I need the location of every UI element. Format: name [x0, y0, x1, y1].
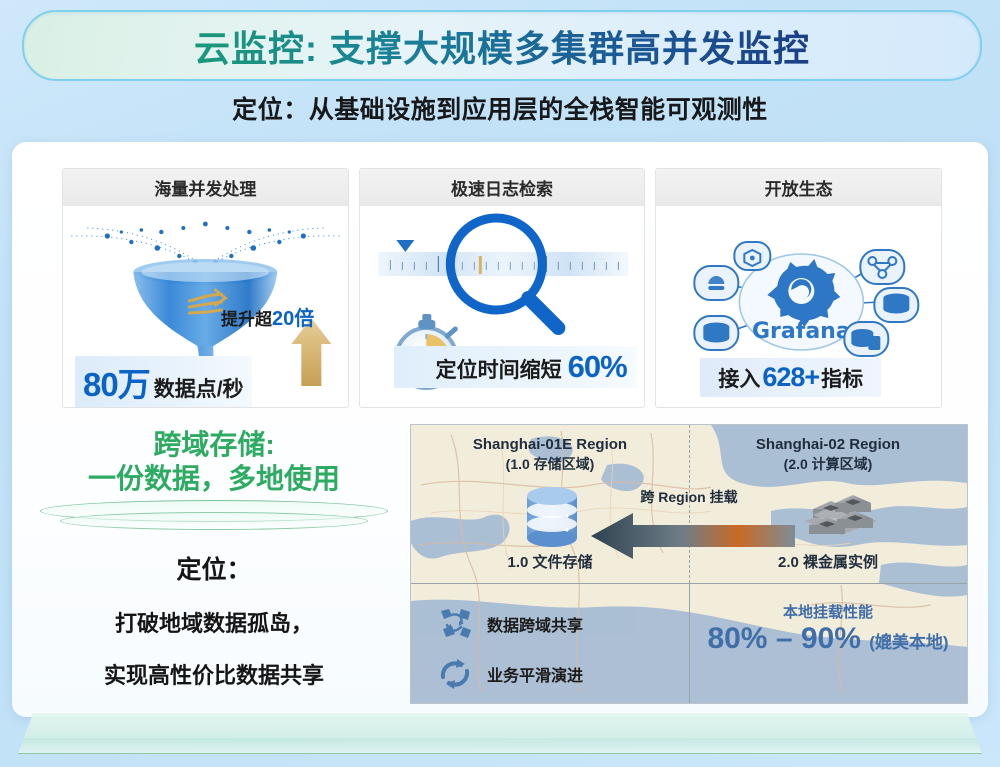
page-title: 云监控: 支撑大规模多集群高并发监控 — [24, 12, 980, 79]
metric-label: 定位时间缩短 — [436, 354, 562, 384]
left-region-sub: (1.0 存储区域) — [411, 455, 689, 474]
left-region-name: Shanghai-01E Region — [411, 435, 689, 455]
right-region-sub: (2.0 计算区域) — [689, 455, 967, 474]
positioning-title: 定位： — [34, 550, 394, 586]
glass-platform — [18, 712, 982, 754]
card-massive-concurrency[interactable]: 海量并发处理 — [62, 168, 349, 408]
metric-suffix: 指标 — [821, 363, 863, 393]
page-subtitle: 定位：从基础设施到应用层的全栈智能可观测性 — [0, 90, 1000, 126]
left-region-title: Shanghai-01E Region (1.0 存储区域) — [411, 435, 689, 474]
card-body: Grafana — [656, 206, 941, 408]
cross-region-text-column: 跨域存储: 一份数据，多地使用 定位： 打破地域数据孤岛， 实现高性价比数据共享 — [34, 424, 394, 709]
card-fast-log-search[interactable]: 极速日志检索 — [359, 168, 646, 408]
card2-metric: 定位时间缩短 60% — [394, 346, 637, 388]
metric-prefix: 接入 — [718, 363, 760, 393]
card-body: 定位时间缩短 60% — [360, 206, 645, 408]
positioning-line-1: 打破地域数据孤岛， — [34, 606, 394, 638]
main-panel: 海量并发处理 — [12, 142, 988, 717]
arrow-label: 跨 Region 挂载 — [640, 487, 737, 507]
perf-value: 80% – 90% — [707, 622, 860, 655]
card-title: 海量并发处理 — [63, 169, 348, 206]
glass-shelf-divider — [34, 500, 394, 534]
card-title: 极速日志检索 — [360, 169, 645, 206]
lower-section: 跨域存储: 一份数据，多地使用 定位： 打破地域数据孤岛， 实现高性价比数据共享 — [12, 424, 988, 709]
metric-value: 80万 — [83, 358, 150, 406]
shelf-ellipse-bottom — [60, 512, 368, 530]
card1-metric: 80万 数据点/秒 — [75, 356, 252, 408]
cross-region-diagram[interactable]: Shanghai-01E Region (1.0 存储区域) 1.0 文件存储 … — [410, 424, 968, 704]
title-banner: 云监控: 支撑大规模多集群高并发监控 — [22, 10, 982, 81]
data-share-network-icon — [437, 607, 475, 641]
benefit-item: 数据跨域共享 — [437, 607, 583, 641]
right-region-title: Shanghai-02 Region (2.0 计算区域) — [689, 435, 967, 474]
metric-value: 60% — [568, 349, 627, 385]
headline-line-1: 跨域存储: — [34, 428, 394, 462]
card1-uplift: 提升超20倍 — [221, 302, 314, 331]
horizontal-divider — [411, 583, 967, 584]
metric-label: 数据点/秒 — [154, 373, 244, 403]
headline-line-2: 一份数据，多地使用 — [34, 462, 394, 496]
right-region-footer: 2.0 裸金属实例 — [689, 551, 967, 572]
uplift-prefix: 提升超 — [221, 310, 272, 329]
benefit-list: 数据跨域共享 业务平滑演进 — [437, 607, 583, 704]
perf-value-row: 80% – 90% (媲美本地) — [689, 622, 967, 656]
perf-caption: 本地挂载性能 — [689, 601, 967, 622]
card-title: 开放生态 — [656, 169, 941, 206]
perf-block: 本地挂载性能 80% – 90% (媲美本地) — [689, 601, 967, 656]
positioning-block: 定位： 打破地域数据孤岛， 实现高性价比数据共享 — [34, 550, 394, 690]
database-cylinder-icon — [519, 485, 585, 551]
perf-note: (媲美本地) — [869, 633, 948, 652]
refresh-cycle-icon — [437, 657, 475, 691]
grafana-wordmark: Grafana — [752, 319, 851, 344]
card3-metric: 接入 628+ 指标 — [700, 358, 881, 397]
cross-region-headline: 跨域存储: 一份数据，多地使用 — [34, 428, 394, 496]
bare-metal-servers-icon — [793, 477, 889, 559]
benefit-item: 业务平滑演进 — [437, 657, 583, 691]
benefit-label: 业务平滑演进 — [487, 662, 583, 686]
metric-value: 628+ — [762, 362, 819, 393]
card-body: 提升超20倍 80万 数据点/秒 — [63, 206, 348, 408]
right-region-name: Shanghai-02 Region — [689, 435, 967, 455]
uplift-value: 20倍 — [272, 308, 314, 330]
card-open-ecosystem[interactable]: 开放生态 — [655, 168, 942, 408]
positioning-line-2: 实现高性价比数据共享 — [34, 658, 394, 690]
benefit-label: 数据跨域共享 — [487, 612, 583, 636]
feature-card-row: 海量并发处理 — [62, 168, 942, 408]
